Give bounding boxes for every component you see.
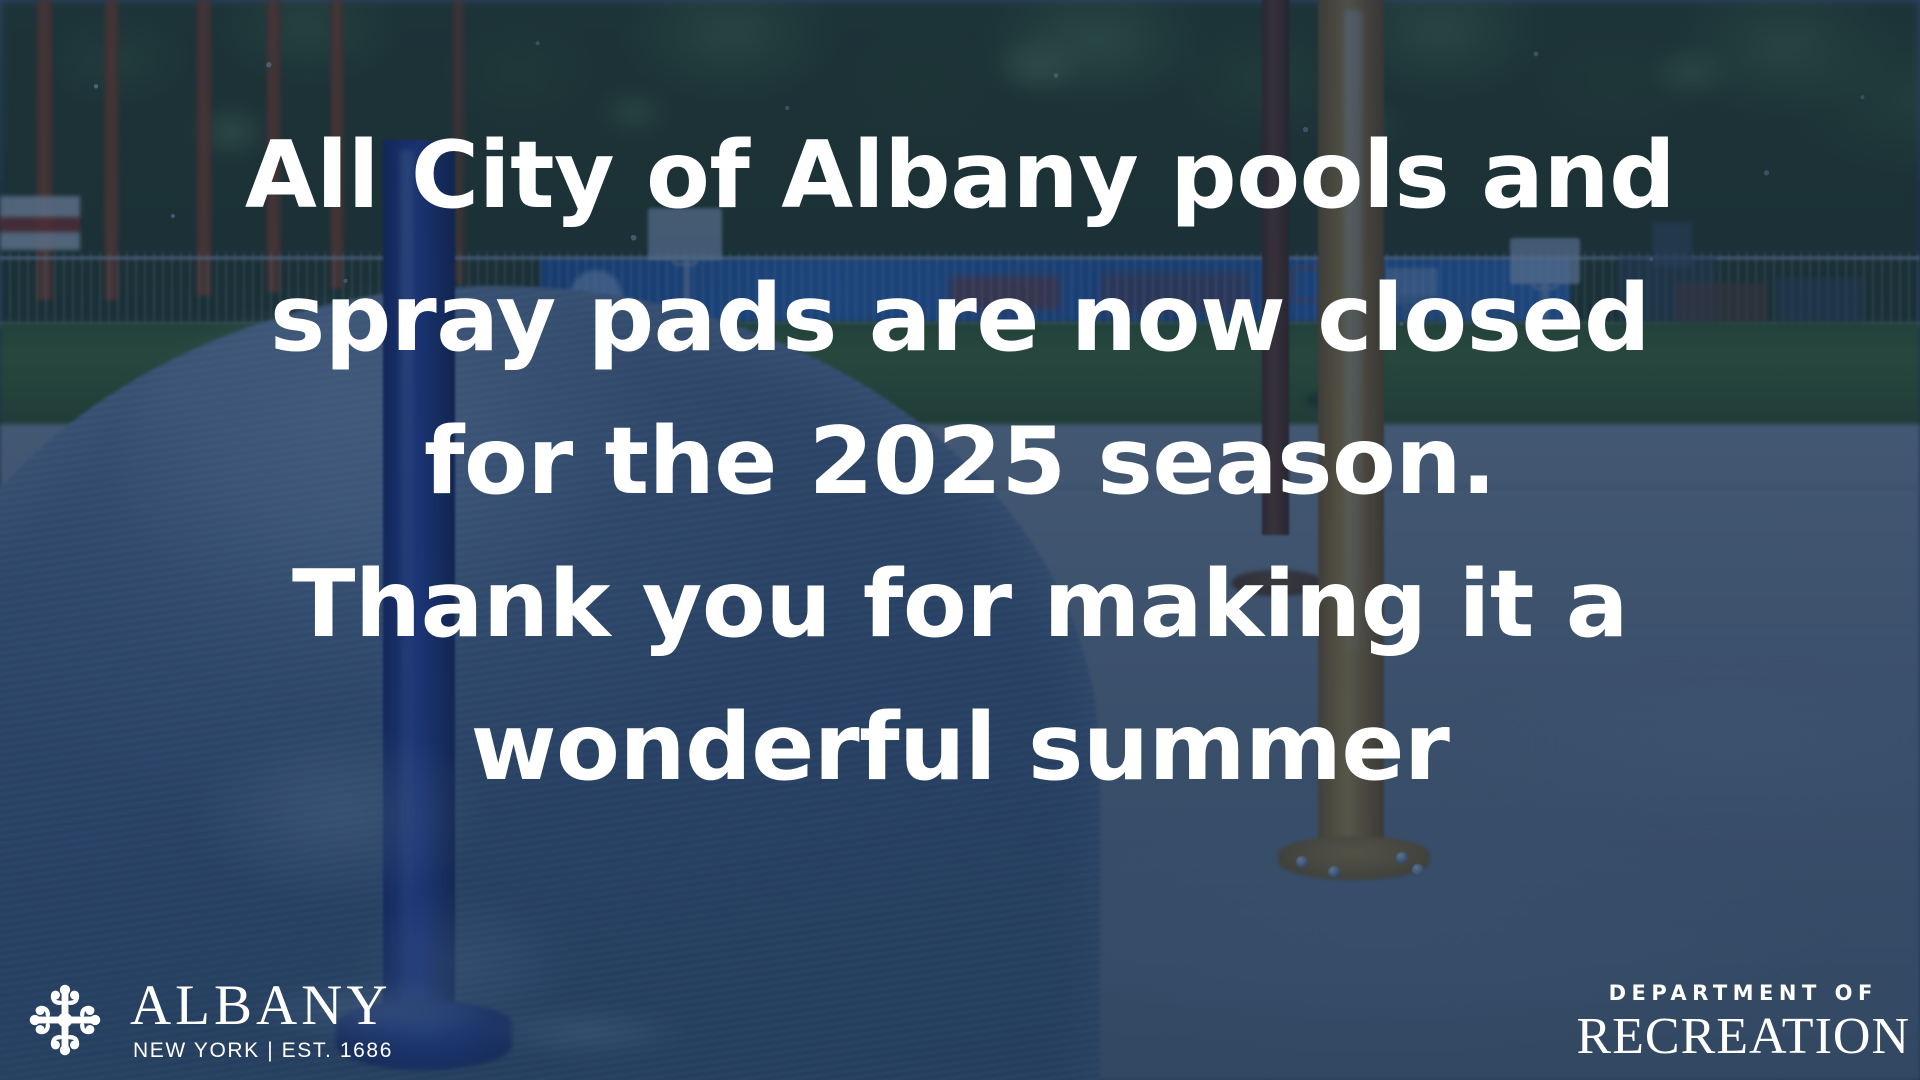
recreation-eyebrow: DEPARTMENT OF [1609,980,1878,1006]
albany-snowflake-icon [22,977,108,1063]
albany-tagline: NEW YORK | EST. 1686 [130,1038,393,1064]
recreation-name: RECREATION [1576,1008,1910,1066]
albany-wordmark: ALBANY NEW YORK | EST. 1686 [130,976,393,1064]
albany-city-logo: ALBANY NEW YORK | EST. 1686 [22,976,393,1064]
recreation-department-logo: DEPARTMENT OF RECREATION [1576,980,1910,1066]
announcement-poster: All City of Albany pools and spray pads … [0,0,1920,1080]
albany-name: ALBANY [130,976,393,1036]
blue-gradient-overlay [0,0,1920,1080]
